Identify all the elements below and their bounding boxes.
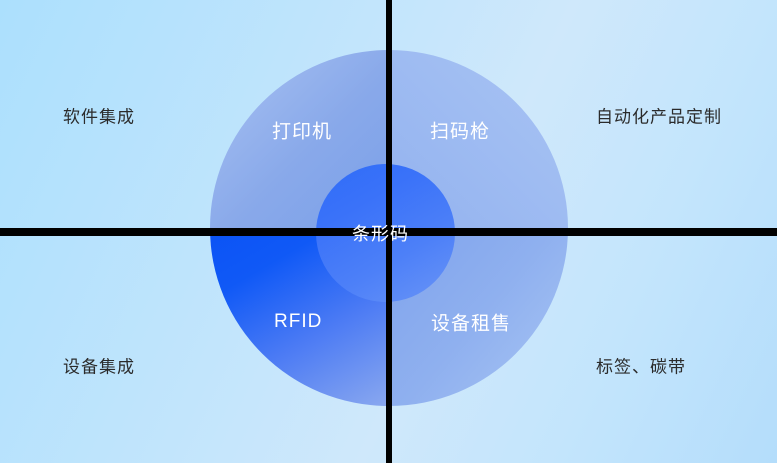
ring-segment-label-printer: 打印机 xyxy=(272,117,332,144)
ring-segment-label-rfid: RFID xyxy=(274,311,322,333)
corner-label-automation: 自动化产品定制 xyxy=(596,103,722,128)
ring-segment-label-rental: 设备租售 xyxy=(431,309,511,336)
center-circle-label: 条形码 xyxy=(352,220,409,246)
ring-segment-label-scanner: 扫码枪 xyxy=(430,117,490,144)
corner-label-equipment: 设备集成 xyxy=(63,353,135,378)
corner-label-software: 软件集成 xyxy=(63,103,135,128)
quadrant-circle-diagram: 条形码 打印机 扫码枪 RFID 设备租售 软件集成 自动化产品定制 设备集成 … xyxy=(0,0,777,463)
corner-label-consumable: 标签、碳带 xyxy=(596,353,686,378)
